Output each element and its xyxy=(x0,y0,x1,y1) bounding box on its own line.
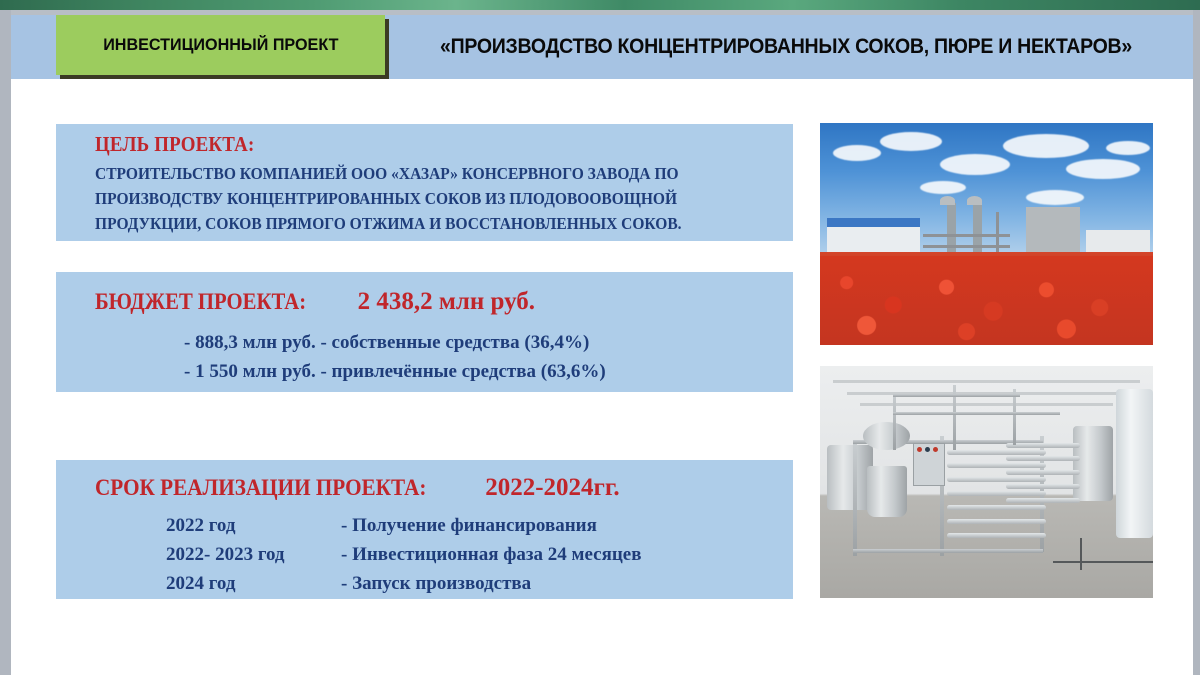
goal-body: СТРОИТЕЛЬСТВО КОМПАНИЕЙ ООО «ХАЗАР» КОНС… xyxy=(95,161,744,236)
overhead-pipe xyxy=(893,394,1020,397)
timeline-label: СРОК РЕАЛИЗАЦИИ ПРОЕКТА: xyxy=(95,475,426,501)
photo-pasteurization-equipment xyxy=(820,366,1153,598)
overhead-pipe xyxy=(893,412,1060,415)
goal-heading: ЦЕЛЬ ПРОЕКТА: xyxy=(95,132,254,157)
evaporator-cap xyxy=(967,196,982,205)
heat-exchanger-tube xyxy=(947,463,1047,468)
photo-tomato-processing-plant xyxy=(820,123,1153,345)
table-row: 2024 год - Запуск производства xyxy=(166,573,642,602)
goal-line: СТРОИТЕЛЬСТВО КОМПАНИЕЙ ООО «ХАЗАР» КОНС… xyxy=(95,161,744,186)
timeline-year: 2022 год xyxy=(166,515,341,544)
heat-exchanger-tube xyxy=(947,477,1047,482)
factory-roof xyxy=(827,218,920,227)
heat-exchanger-tube xyxy=(1006,443,1079,448)
mixing-vessel xyxy=(867,466,907,517)
storage-tank-large xyxy=(1116,389,1153,537)
heat-exchanger-tube xyxy=(1006,498,1079,503)
goal-panel: ЦЕЛЬ ПРОЕКТА: СТРОИТЕЛЬСТВО КОМПАНИЕЙ ОО… xyxy=(56,124,793,241)
vessel-lid xyxy=(863,422,910,450)
ceiling-beam xyxy=(860,403,1113,406)
cloud xyxy=(1026,190,1084,205)
goal-line: ПРОИЗВОДСТВУ КОНЦЕНТРИРОВАННЫХ СОКОВ ИЗ … xyxy=(95,186,744,211)
heat-exchanger-tube xyxy=(947,491,1047,496)
photo-canvas xyxy=(820,123,1153,345)
cloud xyxy=(940,154,1010,175)
budget-panel: БЮДЖЕТ ПРОЕКТА: 2 438,2 млн руб. - 888,3… xyxy=(56,272,793,392)
floor-line xyxy=(1053,561,1153,563)
timeline-text: - Инвестиционная фаза 24 месяцев xyxy=(341,544,642,573)
heat-exchanger-tube xyxy=(1006,484,1079,489)
timeline-table: 2022 год - Получение финансирования 2022… xyxy=(166,515,642,602)
slide: «ПРОИЗВОДСТВО КОНЦЕНТРИРОВАННЫХ СОКОВ, П… xyxy=(0,0,1200,675)
ceiling-beam xyxy=(833,380,1139,383)
budget-line: - 888,3 млн руб. - собственные средства … xyxy=(184,328,606,357)
project-type-badge: ИНВЕСТИЦИОННЫЙ ПРОЕКТ xyxy=(56,15,385,75)
slide-header: «ПРОИЗВОДСТВО КОНЦЕНТРИРОВАННЫХ СОКОВ, П… xyxy=(11,15,1193,79)
budget-header-row: БЮДЖЕТ ПРОЕКТА: 2 438,2 млн руб. xyxy=(95,288,535,316)
floor-line xyxy=(1080,538,1082,570)
page-title: «ПРОИЗВОДСТВО КОНЦЕНТРИРОВАННЫХ СОКОВ, П… xyxy=(413,15,1159,79)
riser-pipe xyxy=(1013,389,1016,445)
table-row: 2022- 2023 год - Инвестиционная фаза 24 … xyxy=(166,544,642,573)
heat-exchanger-tube xyxy=(947,505,1047,510)
frame-post xyxy=(853,440,857,556)
heat-exchanger-tube xyxy=(947,519,1047,524)
timeline-text: - Получение финансирования xyxy=(341,515,642,544)
timeline-year: 2024 год xyxy=(166,573,341,602)
decorative-top-band xyxy=(0,0,1200,10)
budget-total-amount: 2 438,2 млн руб. xyxy=(358,288,535,316)
heat-exchanger-tube xyxy=(1006,456,1079,461)
heat-exchanger-tube xyxy=(947,533,1047,538)
cloud xyxy=(920,181,966,194)
timeline-text: - Запуск производства xyxy=(341,573,642,602)
timeline-header-row: СРОК РЕАЛИЗАЦИИ ПРОЕКТА: 2022-2024гг. xyxy=(95,474,620,502)
timeline-range: 2022-2024гг. xyxy=(485,474,619,502)
decorative-left-strip xyxy=(0,10,11,675)
indicator-light xyxy=(933,447,938,452)
cloud xyxy=(1003,134,1089,158)
photo-canvas xyxy=(820,366,1153,598)
table-row: 2022 год - Получение финансирования xyxy=(166,515,642,544)
frame-rail xyxy=(853,549,1043,553)
cloud xyxy=(880,132,942,151)
timeline-year: 2022- 2023 год xyxy=(166,544,341,573)
budget-line: - 1 550 млн руб. - привлечённые средства… xyxy=(184,357,606,386)
evaporator-cap xyxy=(940,196,955,205)
heat-exchanger-tube xyxy=(947,450,1047,455)
budget-breakdown: - 888,3 млн руб. - собственные средства … xyxy=(184,328,606,386)
riser-pipe xyxy=(893,394,896,450)
cloud xyxy=(1106,141,1150,155)
project-type-badge-label: ИНВЕСТИЦИОННЫЙ ПРОЕКТ xyxy=(103,35,338,55)
storage-tank xyxy=(1073,426,1113,500)
budget-label: БЮДЖЕТ ПРОЕКТА: xyxy=(95,289,306,315)
goal-line: ПРОДУКЦИИ, СОКОВ ПРЯМОГО ОТЖИМА И ВОССТА… xyxy=(95,211,744,236)
decorative-right-strip xyxy=(1193,10,1200,675)
cloud xyxy=(1066,159,1140,179)
tomato-pile-foreground xyxy=(820,256,1153,345)
heat-exchanger-tube xyxy=(1006,470,1079,475)
timeline-panel: СРОК РЕАЛИЗАЦИИ ПРОЕКТА: 2022-2024гг. 20… xyxy=(56,460,793,599)
